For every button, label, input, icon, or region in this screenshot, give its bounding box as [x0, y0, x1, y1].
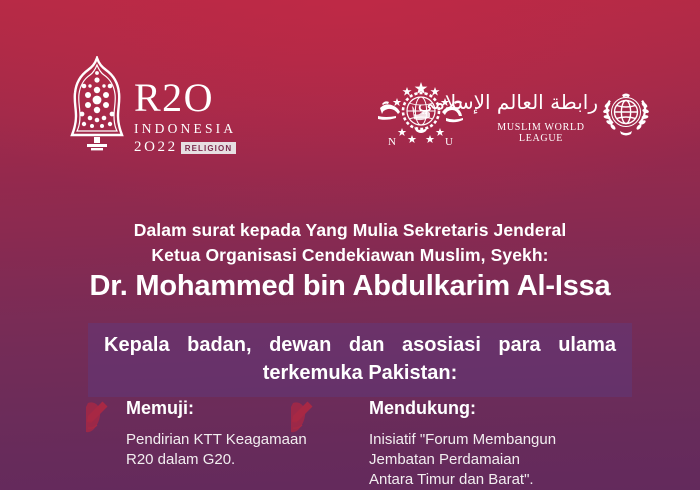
- pen-writing-icon: [287, 399, 317, 433]
- r20-logo: R2O INDONESIA 2O22 RELIGION: [66, 56, 236, 156]
- column-memuji: Memuji: Pendirian KTT Keagamaan R20 dala…: [0, 398, 282, 490]
- nu-letter-u: U: [445, 136, 454, 148]
- batik-ornament-icon: [66, 56, 128, 152]
- nu-letters: N U: [362, 136, 480, 148]
- mwl-arabic-name: رابطة العالم الإسلامي: [482, 90, 598, 114]
- column-memuji-body: Pendirian KTT Keagamaan R20 dalam G20.: [84, 430, 282, 470]
- highlight-line-2: terkemuka Pakistan:: [98, 359, 622, 387]
- mwl-globe-wreath-emblem-icon: [598, 86, 654, 142]
- pen-writing-icon: [82, 399, 112, 433]
- mwl-logo: رابطة العالم الإسلامي MUSLIM WORLD LEAGU…: [482, 84, 654, 146]
- column-memuji-line-2: R20 dalam G20.: [126, 450, 282, 470]
- column-mendukung-body: Inisiatif "Forum Membangun Jembatan Perd…: [327, 430, 612, 490]
- column-mendukung-line-1: Inisiatif "Forum Membangun: [369, 430, 612, 450]
- honoree-name: Dr. Mohammed bin Abdulkarim Al-Issa: [0, 270, 700, 303]
- column-mendukung-line-3: Antara Timur dan Barat".: [369, 470, 612, 490]
- announcement-card: R2O INDONESIA 2O22 RELIGION: [0, 0, 700, 490]
- column-memuji-line-1: Pendirian KTT Keagamaan: [126, 430, 282, 450]
- column-mendukung-line-2: Jembatan Perdamaian: [369, 450, 612, 470]
- r20-wordmark: R2O INDONESIA 2O22 RELIGION: [134, 56, 236, 156]
- column-mendukung-heading: Mendukung:: [327, 398, 612, 418]
- column-mendukung: Mendukung: Inisiatif "Forum Membangun Je…: [282, 398, 612, 490]
- r20-subtitle: INDONESIA: [134, 121, 236, 137]
- r20-title: R2O: [134, 78, 214, 118]
- column-memuji-heading: Memuji:: [84, 398, 282, 418]
- mwl-english-name: MUSLIM WORLD LEAGUE: [482, 122, 600, 144]
- r20-year-row: 2O22 RELIGION: [134, 139, 236, 156]
- intro-line-2: Ketua Organisasi Cendekiawan Muslim, Sye…: [0, 243, 700, 268]
- statement-columns: Memuji: Pendirian KTT Keagamaan R20 dala…: [0, 398, 700, 490]
- nu-letter-n: N: [388, 136, 397, 148]
- logo-header-row: R2O INDONESIA 2O22 RELIGION: [0, 0, 700, 175]
- r20-religion-badge: RELIGION: [181, 142, 236, 154]
- highlight-line-1: Kepala badan, dewan dan asosiasi para ul…: [98, 331, 622, 359]
- intro-block: Dalam surat kepada Yang Mulia Sekretaris…: [0, 218, 700, 268]
- r20-year: 2O22: [134, 139, 178, 156]
- intro-line-1: Dalam surat kepada Yang Mulia Sekretaris…: [0, 218, 700, 243]
- highlight-band: Kepala badan, dewan dan asosiasi para ul…: [88, 323, 632, 397]
